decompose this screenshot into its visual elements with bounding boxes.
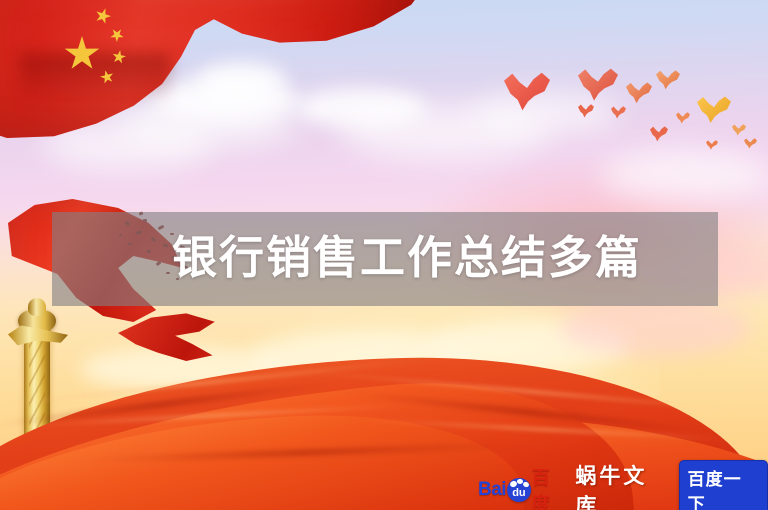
bird-4 bbox=[656, 70, 680, 90]
baidu-latin-text: Bai bbox=[478, 479, 506, 501]
bird-1 bbox=[504, 72, 550, 112]
flag-shadow-fold bbox=[20, 54, 170, 124]
site-brand-label: 蜗牛文库 bbox=[575, 460, 670, 510]
bird-9 bbox=[650, 126, 668, 142]
bird-6 bbox=[578, 104, 594, 118]
chinese-national-flag bbox=[0, 0, 430, 138]
baidu-paw-icon: du bbox=[507, 478, 531, 502]
bird-10 bbox=[732, 124, 746, 136]
bird-11 bbox=[744, 138, 757, 149]
baidu-logo[interactable]: Bai du 百度 bbox=[478, 477, 567, 503]
bird-7 bbox=[611, 106, 626, 119]
baidu-chinese-text: 百度 bbox=[532, 464, 568, 510]
flag-highlight-fold bbox=[140, 0, 300, 28]
page-title: 银行销售工作总结多篇 bbox=[172, 222, 642, 294]
watermark-bar: Bai du 百度 蜗牛文库 百度一下 bbox=[478, 474, 768, 506]
bird-12 bbox=[706, 140, 718, 150]
bird-5 bbox=[697, 96, 731, 124]
bird-2 bbox=[578, 68, 618, 102]
baidu-search-button[interactable]: 百度一下 bbox=[679, 460, 768, 510]
bird-3 bbox=[626, 82, 652, 104]
bird-8 bbox=[676, 112, 690, 124]
baidu-paw-label: du bbox=[512, 487, 525, 499]
poster-image: 银行销售工作总结多篇 Bai du 百度 蜗牛文库 百度一下 bbox=[0, 0, 768, 510]
